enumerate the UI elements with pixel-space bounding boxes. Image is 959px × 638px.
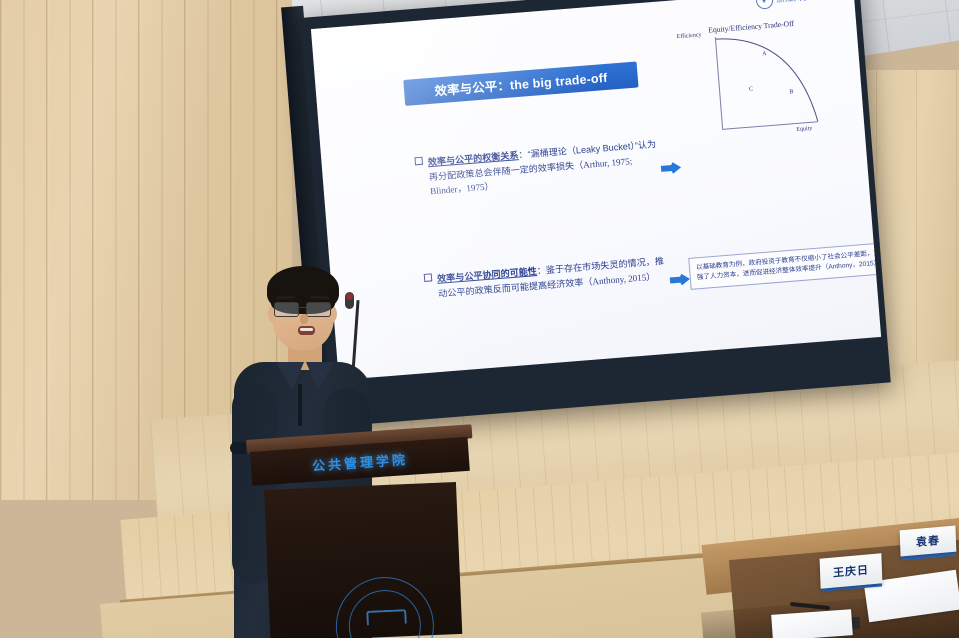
- projection-screen: 效率与公平：the big trade-off 效率与公平的权衡关系：“漏桶理论…: [300, 0, 891, 427]
- chart-frontier-curve: [683, 9, 853, 149]
- paper-sheet: [771, 609, 853, 638]
- slide-bullet-2: 效率与公平协同的可能性：鉴于存在市场失灵的情况，推动公平的政策反而可能提高经济效…: [437, 254, 671, 302]
- university-logo-text: 浙江大学: [776, 0, 811, 5]
- presenter-nose: [300, 314, 308, 324]
- nameplate: 王庆日: [820, 553, 883, 588]
- bullet-square-icon: [414, 157, 423, 166]
- slide-callout-box: 以基础教育为例，政府投资于教育不仅缩小了社会公平差距，更增强了人力资本，进而促进…: [688, 242, 881, 291]
- podium-body: [264, 482, 462, 638]
- nameplate: 袁春: [900, 526, 957, 557]
- university-seal-icon: [334, 575, 436, 638]
- lecture-hall-photo: 效率与公平：the big trade-off 效率与公平的权衡关系：“漏桶理论…: [0, 0, 959, 638]
- podium: 公共管理学院: [246, 440, 472, 638]
- nameplate-text: 袁春: [916, 532, 940, 550]
- chart-point-b: B: [789, 89, 793, 95]
- polo-collar: [276, 362, 334, 392]
- bullet-square-icon: [424, 273, 433, 282]
- presenter-mouth: [298, 326, 315, 335]
- podium-sign-text: 公共管理学院: [311, 449, 408, 475]
- chart-point-a: A: [762, 51, 767, 57]
- polo-placket: [298, 384, 302, 426]
- slide-surface: 效率与公平：the big trade-off 效率与公平的权衡关系：“漏桶理论…: [311, 0, 881, 380]
- bullet-2-citation: （Anthony, 2015）: [583, 271, 656, 287]
- nameplate-text: 王庆日: [833, 561, 869, 580]
- slide-title: 效率与公平：the big trade-off: [434, 68, 608, 100]
- slide-bullet-1: 效率与公平的权衡关系：“漏桶理论（Leaky Bucket）”认为再分配政策总会…: [427, 137, 662, 199]
- equity-efficiency-chart: Equity/Efficiency Trade-Off Efficiency E…: [683, 9, 853, 149]
- slide-title-bar: 效率与公平：the big trade-off: [403, 61, 638, 105]
- zhejiang-university-mark-icon: [755, 0, 773, 9]
- bullet-1-heading: 效率与公平的权衡关系: [427, 150, 518, 167]
- chart-point-c: C: [749, 86, 753, 92]
